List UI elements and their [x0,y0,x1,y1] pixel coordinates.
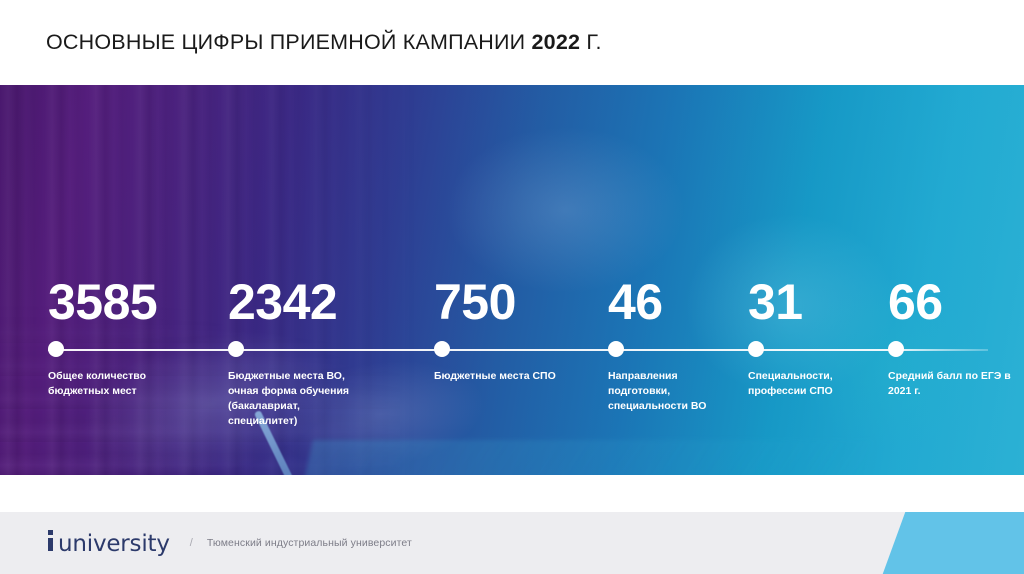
stat-value: 3585 [48,277,157,327]
page-title-year: 2022 [532,30,581,54]
stat-caption: Направления подготовки, специальности ВО [608,369,736,414]
timeline-dot-icon [888,341,904,357]
slide: ОСНОВНЫЕ ЦИФРЫ ПРИЕМНОЙ КАМПАНИИ 2022 Г.… [0,0,1024,574]
timeline-axis [48,349,988,351]
stat-value: 66 [888,277,943,327]
timeline-dot-icon [434,341,450,357]
stat-caption: Общее количество бюджетных мест [48,369,176,399]
stat-value: 2342 [228,277,337,327]
footer-accent-shape [883,512,1024,574]
logo-i-icon [46,529,55,551]
timeline-dot-icon [748,341,764,357]
footer-content: university / Тюменский индустриальный ун… [46,512,412,574]
timeline-dot-icon [608,341,624,357]
timeline-dot-icon [228,341,244,357]
footer-bar: university / Тюменский индустриальный ун… [0,512,1024,574]
stat-caption: Средний балл по ЕГЭ в 2021 г. [888,369,1016,399]
footer-subtitle: Тюменский индустриальный университет [207,537,412,549]
timeline-dot-icon [48,341,64,357]
stat-caption: Бюджетные места СПО [434,369,562,384]
page-title-main: ОСНОВНЫЕ ЦИФРЫ ПРИЕМНОЙ КАМПАНИИ [46,30,532,54]
page-title: ОСНОВНЫЕ ЦИФРЫ ПРИЕМНОЙ КАМПАНИИ 2022 Г. [46,30,602,55]
stat-value: 31 [748,277,803,327]
title-bar: ОСНОВНЫЕ ЦИФРЫ ПРИЕМНОЙ КАМПАНИИ 2022 Г. [0,0,1024,85]
stat-value: 750 [434,277,516,327]
stat-value: 46 [608,277,663,327]
band-footer-gap [0,475,1024,512]
stat-caption: Специальности, профессии СПО [748,369,876,399]
page-title-suffix: Г. [580,30,602,54]
university-logo[interactable]: university [46,529,170,557]
stat-caption: Бюджетные места ВО, очная форма обучения… [228,369,356,429]
logo-wordmark: university [58,531,170,557]
hero-photo-band: 3585Общее количество бюджетных мест2342Б… [0,85,1024,475]
footer-separator: / [190,537,193,549]
